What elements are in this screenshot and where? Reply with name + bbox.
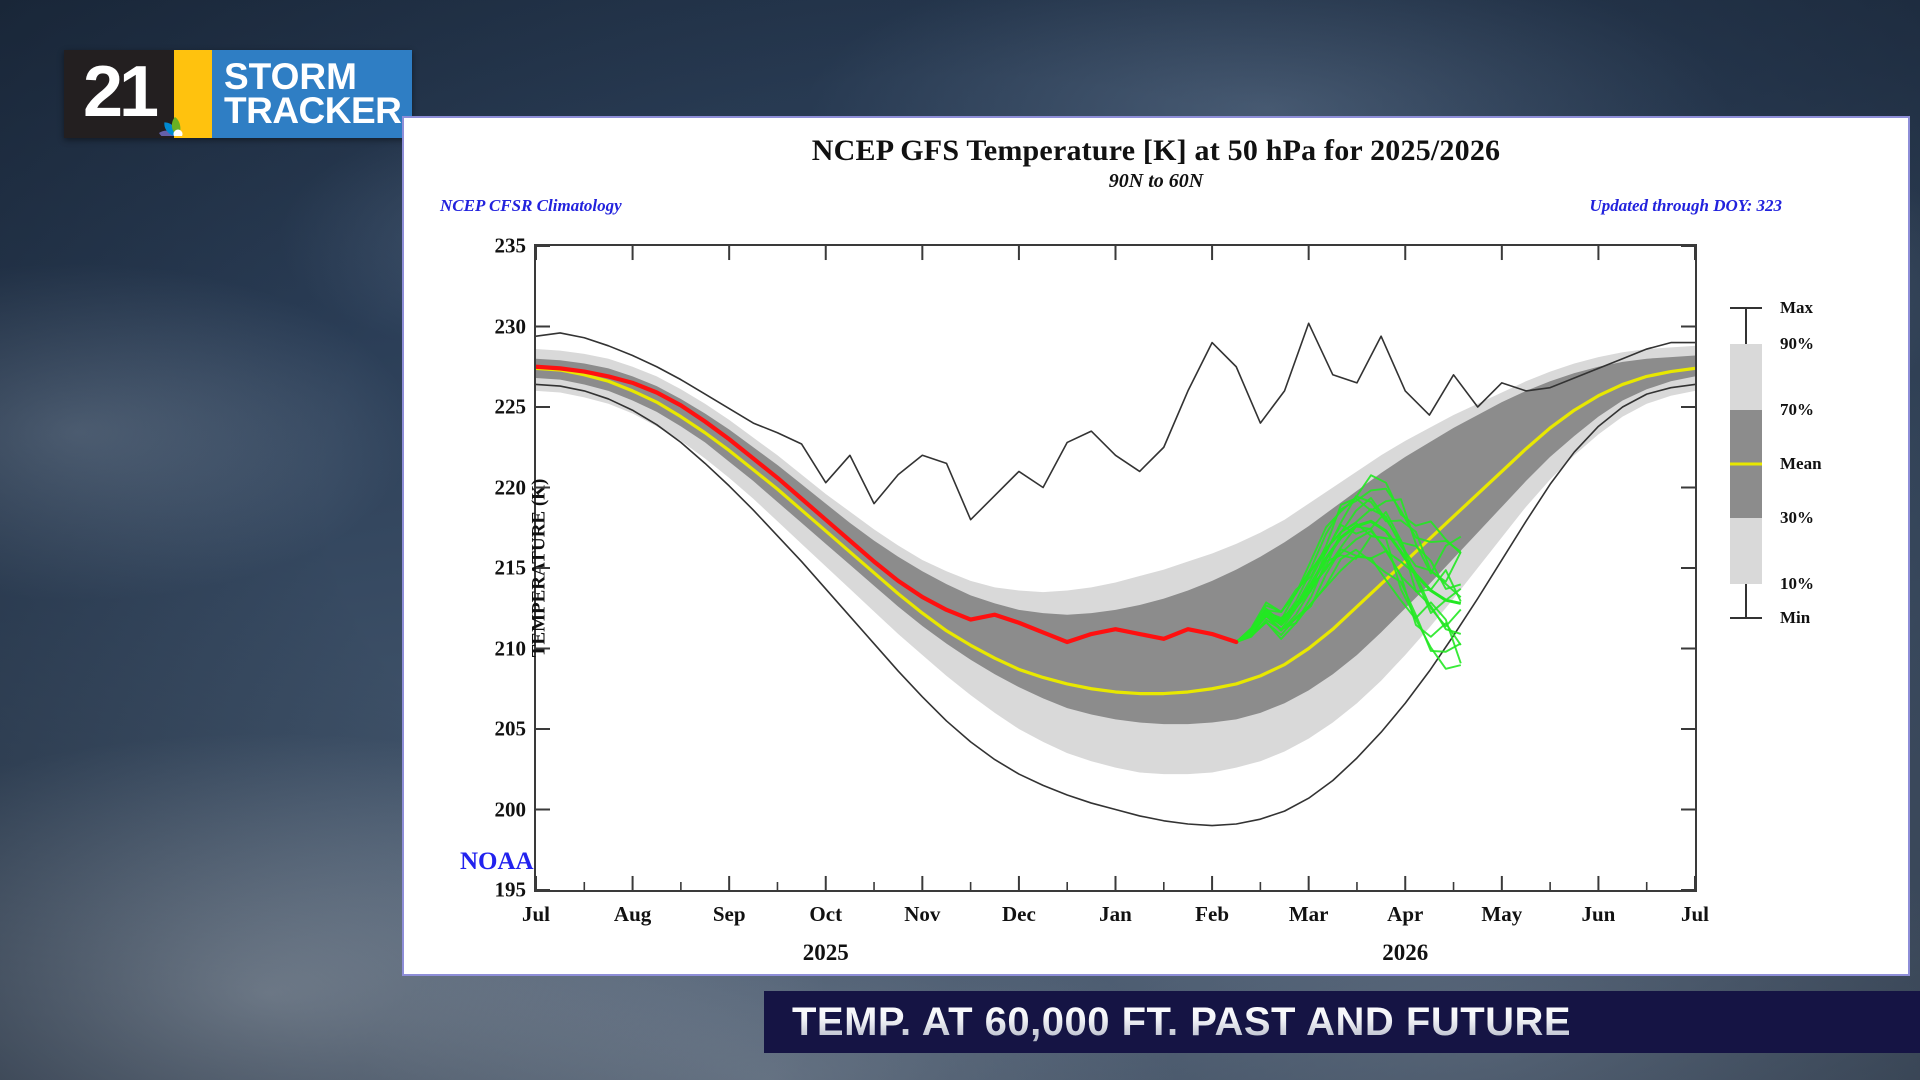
logo-brand-line1: STORM xyxy=(224,60,402,94)
logo-brand-block: STORM TRACKER xyxy=(212,50,412,138)
x-axis-tick: Jan xyxy=(1099,902,1132,927)
station-logo: 21 STORM TRACKER xyxy=(64,50,412,138)
logo-channel-number-text: 21 xyxy=(83,56,155,128)
x-axis-tick: Nov xyxy=(904,902,940,927)
chart-legend: Max90%70%Mean30%10%Min xyxy=(1722,298,1882,628)
y-axis-tick: 215 xyxy=(495,556,527,581)
x-axis-tick: Aug xyxy=(614,902,651,927)
x-axis-tick: Dec xyxy=(1002,902,1036,927)
x-axis-tick: Sep xyxy=(713,902,746,927)
y-axis-tick: 230 xyxy=(495,314,527,339)
chart-subtitle: 90N to 60N xyxy=(404,170,1908,193)
x-axis-tick: Mar xyxy=(1289,902,1329,927)
legend-item-90pct: 90% xyxy=(1780,334,1814,354)
banner-headline: TEMP. AT 60,000 FT. PAST AND FUTURE xyxy=(764,1000,1571,1045)
y-axis-tick: 225 xyxy=(495,395,527,420)
climatology-plot-svg xyxy=(536,246,1695,890)
x-axis-tick: Jul xyxy=(1681,902,1709,927)
logo-brand-line2: TRACKER xyxy=(224,94,402,128)
x-axis-tick: Apr xyxy=(1387,902,1423,927)
legend-item-30pct: 30% xyxy=(1780,508,1814,528)
x-axis-tick: Oct xyxy=(809,902,842,927)
y-axis-tick: 200 xyxy=(495,797,527,822)
legend-item-min: Min xyxy=(1780,608,1810,628)
legend-item-10pct: 10% xyxy=(1780,574,1814,594)
legend-item-max: Max xyxy=(1780,298,1813,318)
x-axis-year-label: 2026 xyxy=(1382,940,1428,966)
chart-title: NCEP GFS Temperature [K] at 50 hPa for 2… xyxy=(404,134,1908,168)
y-axis-tick: 235 xyxy=(495,234,527,259)
x-axis-tick: Jun xyxy=(1581,902,1615,927)
plot-area: TEMPERATURE (K) 195200205210215220225230… xyxy=(534,244,1697,892)
chart-panel: NCEP GFS Temperature [K] at 50 hPa for 2… xyxy=(402,116,1910,976)
x-axis-tick: Jul xyxy=(522,902,550,927)
legend-item-mean: Mean xyxy=(1780,454,1822,474)
y-axis-tick: 205 xyxy=(495,717,527,742)
nbc-peacock-icon xyxy=(148,92,208,136)
legend-item-70pct: 70% xyxy=(1780,400,1814,420)
x-axis-tick: Feb xyxy=(1195,902,1229,927)
x-axis-tick: May xyxy=(1481,902,1522,927)
climatology-note: NCEP CFSR Climatology xyxy=(440,196,622,216)
x-axis-year-label: 2025 xyxy=(803,940,849,966)
lower-third-banner: TEMP. AT 60,000 FT. PAST AND FUTURE xyxy=(764,991,1920,1053)
y-axis-tick: 210 xyxy=(495,636,527,661)
y-axis-tick: 220 xyxy=(495,475,527,500)
updated-through-note: Updated through DOY: 323 xyxy=(1589,196,1782,216)
y-axis-tick: 195 xyxy=(495,878,527,903)
